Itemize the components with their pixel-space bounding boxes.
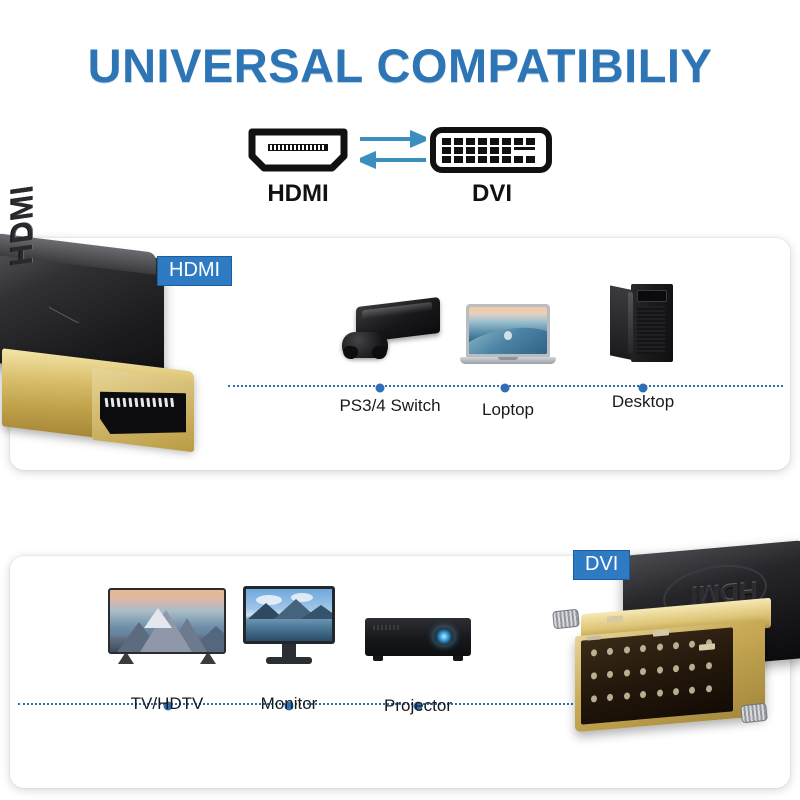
- projector-icon: [365, 604, 471, 664]
- tv-icon: [108, 586, 226, 664]
- hdmi-connector-label: HDMI: [238, 180, 358, 208]
- device-desktop: Desktop: [610, 284, 676, 412]
- device-label: PS3/4 Switch: [325, 396, 455, 416]
- device-label: Monitor: [243, 694, 335, 714]
- thumbscrew-left-icon: [552, 609, 580, 630]
- laptop-icon: [460, 292, 556, 370]
- dvi-connector-label: DVI: [432, 180, 552, 208]
- device-tv: TV/HDTV: [108, 586, 226, 714]
- dvi-badge: DVI: [573, 550, 630, 580]
- hdmi-badge: HDMI: [157, 256, 232, 286]
- hdmi-port-icon: [248, 126, 348, 174]
- dvi-port-icon: [430, 126, 552, 174]
- device-monitor: Monitor: [243, 586, 335, 714]
- device-label: TV/HDTV: [108, 694, 226, 714]
- game-console-icon: [325, 288, 455, 366]
- hdmi-emboss-text: HDMI: [6, 183, 40, 268]
- dvi-male-connector-photo: HDMI: [545, 548, 800, 776]
- page-title: UNIVERSAL COMPATIBILIY: [0, 38, 800, 93]
- thumbscrew-right-icon: [740, 703, 768, 724]
- device-label: Desktop: [610, 392, 676, 412]
- device-laptop: Loptop: [460, 292, 556, 420]
- desktop-tower-icon: [610, 284, 676, 362]
- connector-diagram: HDMI DVI: [0, 118, 800, 218]
- bidirectional-arrows: [360, 130, 426, 172]
- device-ps-console: PS3/4 Switch: [325, 288, 455, 416]
- device-label: Loptop: [460, 400, 556, 420]
- device-projector: Projector: [365, 604, 471, 716]
- monitor-icon: [243, 586, 335, 664]
- device-label: Projector: [365, 696, 471, 716]
